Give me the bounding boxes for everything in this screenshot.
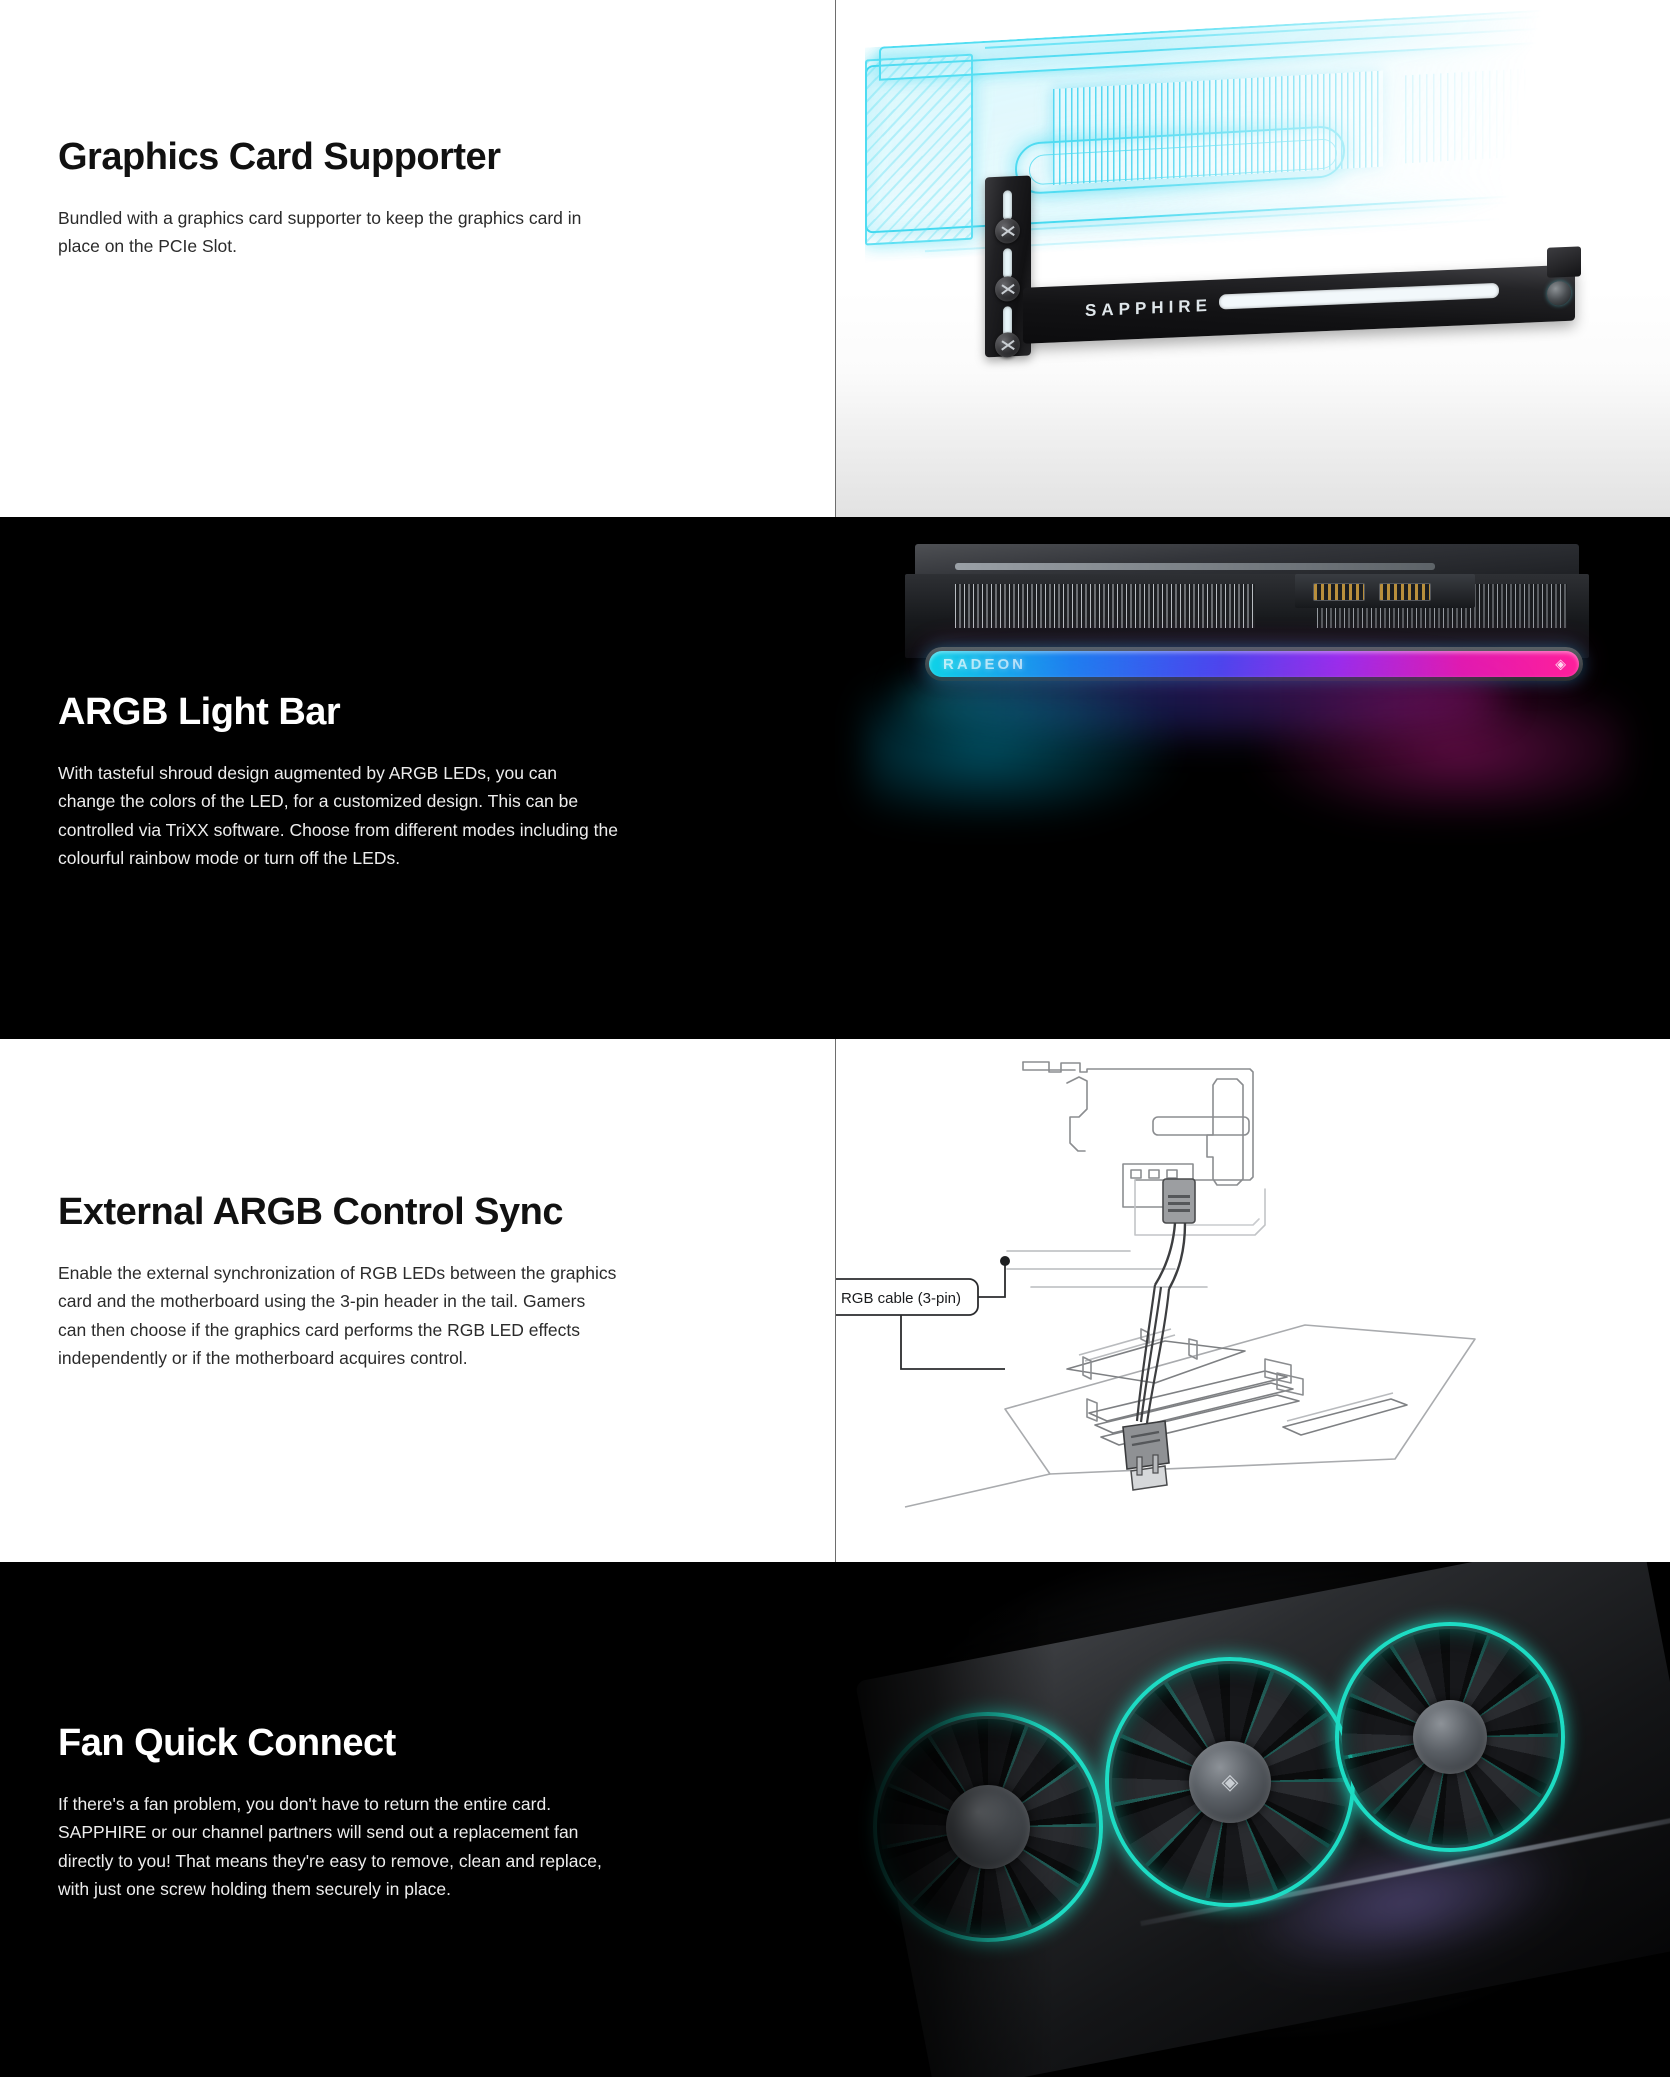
page-title-fan-quick-connect: Fan Quick Connect: [58, 1724, 785, 1764]
section-description-fan-quick-connect: If there's a fan problem, you don't have…: [58, 1790, 618, 1903]
section-text-column: ARGB Light Bar With tasteful shroud desi…: [0, 517, 835, 1039]
product-feature-page: Graphics Card Supporter Bundled with a g…: [0, 0, 1670, 2077]
section-media-column: ◈: [835, 1562, 1670, 2077]
section-argb-light-bar: ARGB Light Bar With tasteful shroud desi…: [0, 517, 1670, 1039]
bracket-end-cap: [1547, 246, 1581, 277]
light-bar-underglow: [905, 663, 1505, 733]
section-media-column: RADEON ◈: [835, 517, 1670, 1039]
svg-text:RGB cable (3-pin): RGB cable (3-pin): [841, 1290, 961, 1307]
page-title-external-argb-control-sync: External ARGB Control Sync: [58, 1193, 785, 1233]
page-title-argb-light-bar: ARGB Light Bar: [58, 693, 785, 733]
section-description-graphics-card-supporter: Bundled with a graphics card supporter t…: [58, 204, 618, 261]
heatsink-fins: [955, 584, 1255, 628]
nitro-logo-icon: ◈: [1189, 1741, 1271, 1823]
card-fan: ◈: [1105, 1657, 1355, 1907]
fan-hub: [946, 1785, 1030, 1869]
section-graphics-card-supporter: Graphics Card Supporter Bundled with a g…: [0, 0, 1670, 517]
rgb-plug-motherboard: [1123, 1421, 1169, 1490]
nitro-logo-icon: ◈: [1555, 656, 1566, 673]
bracket-photo: SAPPHIRE: [835, 0, 1670, 517]
section-description-external-argb-control-sync: Enable the external synchronization of R…: [58, 1259, 618, 1372]
callout-rgb-cable: RGB cable (3-pin): [835, 1279, 978, 1315]
section-description-argb-light-bar: With tasteful shroud design augmented by…: [58, 759, 618, 872]
card-fan: [873, 1712, 1103, 1942]
section-media-column: RGB cable (3-pin): [835, 1039, 1670, 1562]
radeon-wordmark: RADEON: [943, 656, 1026, 673]
bracket-end-screw: [1547, 281, 1571, 306]
callout-anchor-dot: [1000, 1256, 1010, 1266]
column-divider: [835, 0, 836, 517]
power-connectors: [1295, 574, 1475, 608]
support-bracket: SAPPHIRE: [985, 153, 1575, 358]
section-text-column: Graphics Card Supporter Bundled with a g…: [0, 0, 835, 517]
section-text-column: External ARGB Control Sync Enable the ex…: [0, 1039, 835, 1562]
argb-light-bar-photo: RADEON ◈: [835, 517, 1670, 1039]
bracket-horizontal-arm: SAPPHIRE: [1023, 265, 1575, 344]
rgb-cable-routing-diagram: RGB cable (3-pin): [835, 1039, 1670, 1562]
section-media-column: SAPPHIRE: [835, 0, 1670, 517]
fan-hub: [1413, 1700, 1487, 1774]
fan-quick-connect-photo: ◈: [835, 1562, 1670, 2077]
column-divider: [835, 1039, 836, 1562]
sapphire-brand-mark: SAPPHIRE: [1085, 296, 1212, 321]
section-fan-quick-connect: Fan Quick Connect If there's a fan probl…: [0, 1562, 1670, 2077]
argb-sync-diagram: RGB cable (3-pin): [835, 1039, 1670, 1562]
rgb-plug-card: [1163, 1179, 1195, 1223]
page-title-graphics-card-supporter: Graphics Card Supporter: [58, 138, 785, 178]
card-fan: [1335, 1622, 1565, 1852]
section-text-column: Fan Quick Connect If there's a fan probl…: [0, 1562, 835, 2077]
section-external-argb-control-sync: External ARGB Control Sync Enable the ex…: [0, 1039, 1670, 1562]
